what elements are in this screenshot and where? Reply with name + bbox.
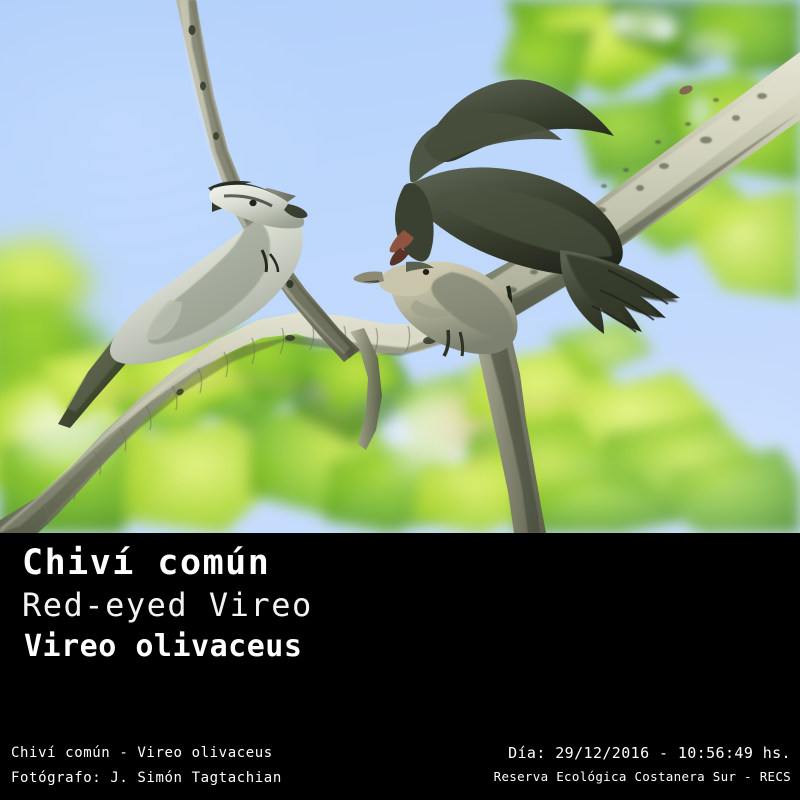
- footer-species-line: Chiví común - Vireo olivaceus: [11, 746, 273, 760]
- footer-location-line: Reserva Ecológica Costanera Sur - RECS: [494, 771, 791, 784]
- photo-metadata-footer: Chiví común - Vireo olivaceus Fotógrafo:…: [0, 737, 800, 800]
- species-common-name: Chiví común: [22, 546, 270, 581]
- bird-eye-fledgling: [423, 269, 429, 275]
- photo-caption-card: Chiví común Red-eyed Vireo Vireo olivace…: [0, 0, 800, 800]
- footer-photographer-line: Fotógrafo: J. Simón Tagtachian: [11, 771, 282, 785]
- species-scientific-name: Vireo olivaceus: [24, 632, 302, 662]
- bird-photograph: [0, 0, 800, 533]
- photo-svg: [0, 0, 800, 533]
- footer-datetime-line: Día: 29/12/2016 - 10:56:49 hs.: [508, 746, 791, 761]
- species-english-name: Red-eyed Vireo: [22, 589, 313, 621]
